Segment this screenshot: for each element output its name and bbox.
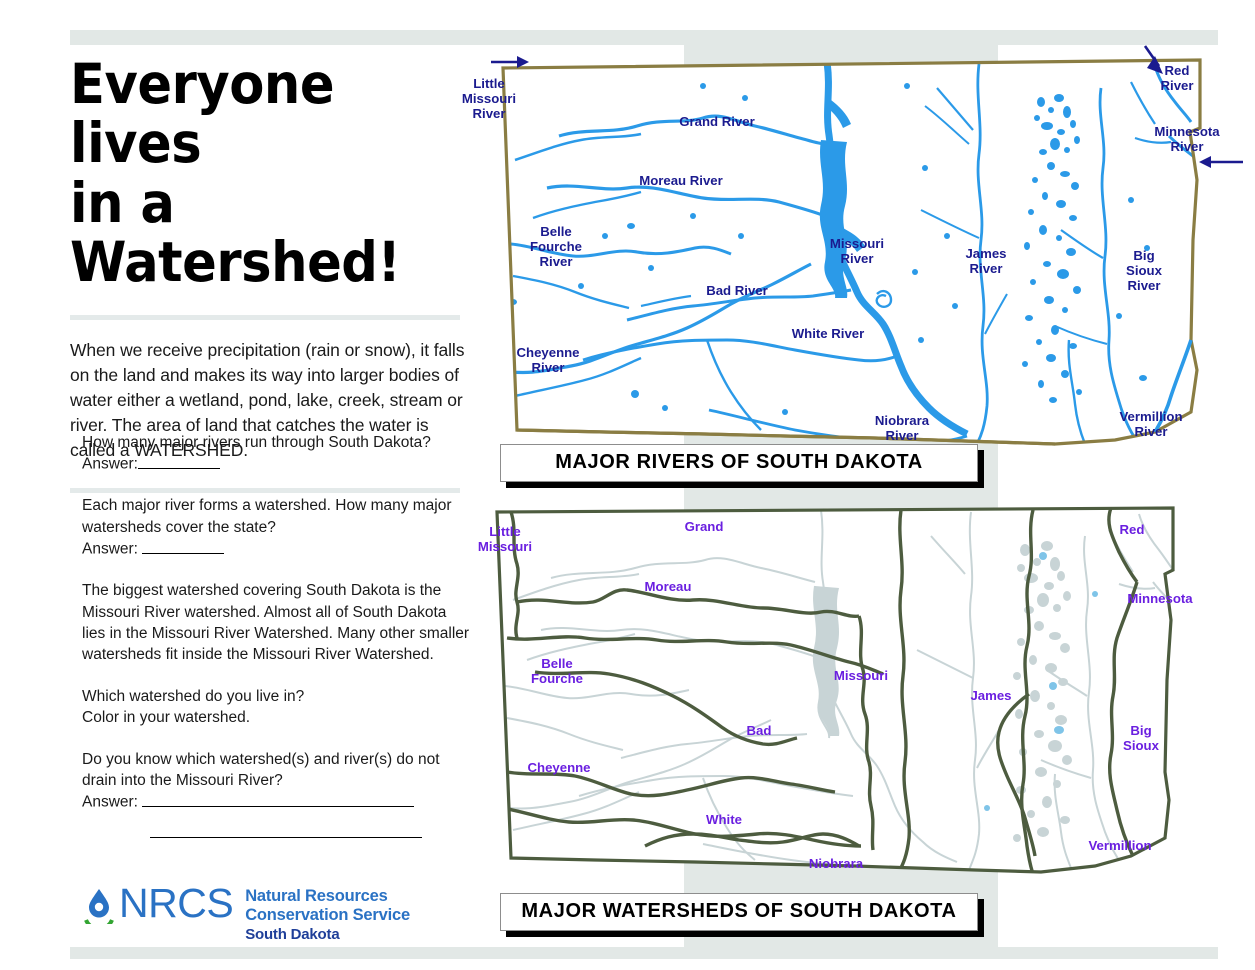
rivers-map-title-banner: MAJOR RIVERS OF SOUTH DAKOTA xyxy=(500,444,978,482)
minnesota-river-arrow-icon xyxy=(1199,156,1243,168)
grand-watershed-label: Grand xyxy=(685,519,724,534)
question-4-text2: Color in your watershed. xyxy=(82,707,472,728)
watersheds-map-title-banner: MAJOR WATERSHEDS OF SOUTH DAKOTA xyxy=(500,893,978,931)
bad-watershed-label: Bad xyxy=(747,723,772,738)
question-1: How many major rivers run through South … xyxy=(82,432,472,475)
white-watershed-label: White xyxy=(706,812,742,827)
grand-river-label: Grand River xyxy=(679,114,755,129)
question-4-text: Which watershed do you live in? xyxy=(82,686,472,707)
nrcs-agency-text: Natural Resources Conservation Service S… xyxy=(245,884,410,944)
question-5: Do you know which watershed(s) and river… xyxy=(82,749,472,845)
question-1-answer-blank[interactable] xyxy=(138,453,220,469)
left-column: Everyone lives in a Watershed! When we r… xyxy=(70,55,470,493)
question-2-text: Each major river forms a watershed. How … xyxy=(82,495,472,538)
question-2: Each major river forms a watershed. How … xyxy=(82,495,472,560)
moreau-river-label: Moreau River xyxy=(639,173,723,188)
vermillion-watershed-label: Vermillion xyxy=(1088,838,1151,853)
question-4: Which watershed do you live in? Color in… xyxy=(82,686,472,729)
question-5-answer-row: Answer: xyxy=(82,791,472,813)
nrcs-line-1: Natural Resources xyxy=(245,887,410,906)
question-1-text: How many major rivers run through South … xyxy=(82,432,472,453)
question-2-answer-label: Answer: xyxy=(82,541,138,558)
bad-river-label: Bad River xyxy=(706,283,768,298)
questions-section: How many major rivers run through South … xyxy=(82,432,472,865)
page-title-line2: in a Watershed! xyxy=(70,171,400,294)
question-2-answer-row: Answer: xyxy=(82,538,472,560)
white-river-label: White River xyxy=(792,326,865,341)
red-watershed-label: Red xyxy=(1120,522,1145,537)
page-title-line1: Everyone lives xyxy=(70,52,334,175)
missouri-watershed-label: Missouri xyxy=(834,668,888,683)
question-5-answer-label: Answer: xyxy=(82,794,138,811)
moreau-watershed-label: Moreau xyxy=(645,579,692,594)
nrcs-acronym: NRCS xyxy=(119,884,233,922)
nrcs-droplet-icon xyxy=(82,884,116,924)
question-3-statement: The biggest watershed covering South Dak… xyxy=(82,580,472,666)
page-band-bottom xyxy=(70,947,1218,959)
nrcs-line-2: Conservation Service xyxy=(245,906,410,925)
question-1-answer-label: Answer: xyxy=(82,456,138,473)
question-5-text: Do you know which watershed(s) and river… xyxy=(82,749,472,792)
nrcs-line-3: South Dakota xyxy=(245,926,410,944)
minnesota-watershed-label: Minnesota xyxy=(1127,591,1193,606)
james-watershed-label: James xyxy=(970,688,1011,703)
divider-top xyxy=(70,315,460,320)
question-1-answer-row: Answer: xyxy=(82,453,472,475)
question-2-answer-blank[interactable] xyxy=(142,538,224,554)
map-major-rivers[interactable]: LittleMissouriRiverGrand RiverMoreau Riv… xyxy=(455,40,1255,460)
question-3-text: The biggest watershed covering South Dak… xyxy=(82,580,472,666)
page-title: Everyone lives in a Watershed! xyxy=(70,55,442,293)
question-5-answer-blank-1[interactable] xyxy=(142,791,414,807)
red-river-label: RedRiver xyxy=(1161,63,1194,93)
nrcs-logo: NRCS Natural Resources Conservation Serv… xyxy=(82,884,410,944)
james-river-label: JamesRiver xyxy=(965,246,1006,276)
niobrara-watershed-label: Niobrara xyxy=(809,856,864,871)
map-major-watersheds[interactable]: LittleMissouriGrandMoreauBelleFourcheChe… xyxy=(455,490,1255,900)
question-5-answer-blank-2[interactable] xyxy=(150,822,422,838)
cheyenne-watershed-label: Cheyenne xyxy=(527,760,590,775)
